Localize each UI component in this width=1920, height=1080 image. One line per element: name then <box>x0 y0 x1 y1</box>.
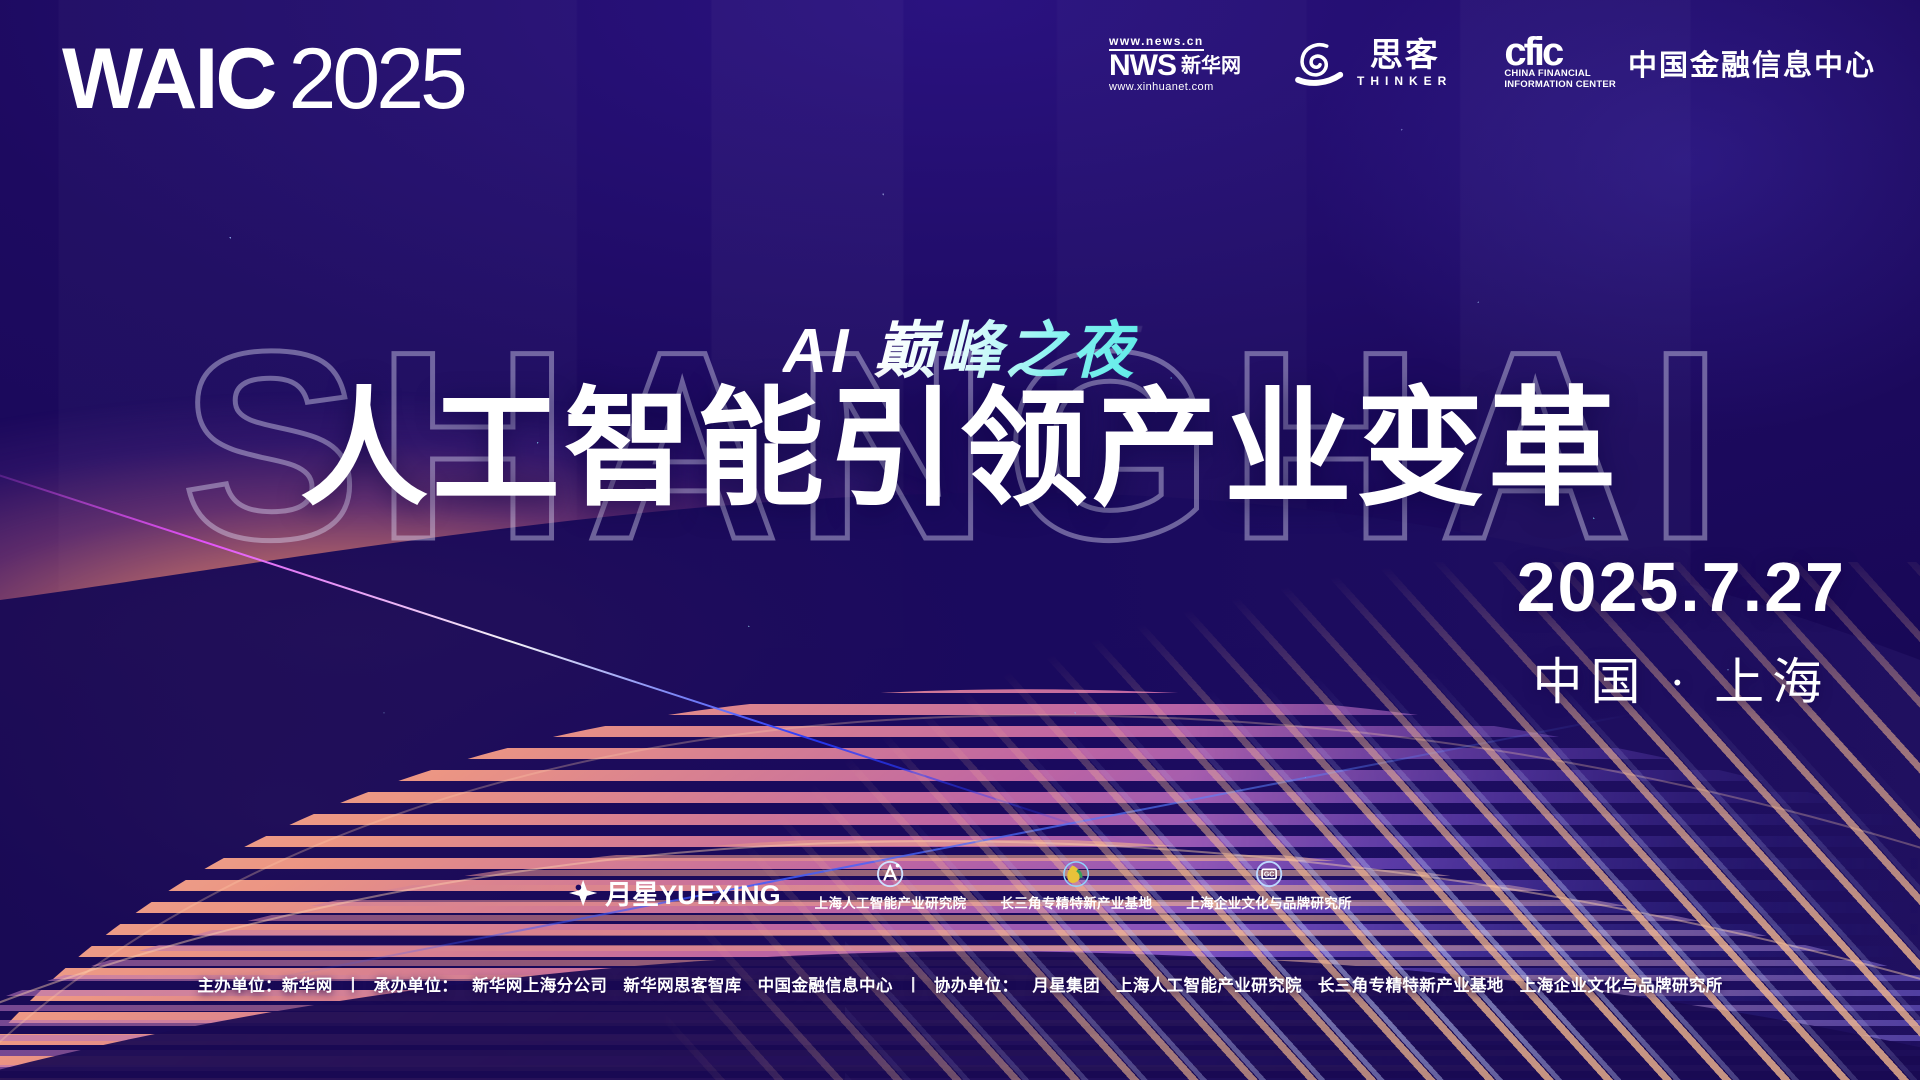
thinker-name-cn: 思客 <box>1370 38 1440 71</box>
waic-logo-brand: WAIC <box>62 36 275 122</box>
credits-organizer-item: 中国金融信息中心 <box>758 972 893 996</box>
partner-logo-cfic: cfic CHINA FINANCIAL INFORMATION CENTER … <box>1504 35 1876 91</box>
sponsor-yuexing: 月星YUEXING <box>568 873 781 912</box>
credits-line: 主办单位：新华网 | 承办单位： 新华网上海分公司 新华网思客智库 中国金融信息… <box>197 972 1722 996</box>
sponsor-ai-institute-label: 上海人工智能产业研究院 <box>815 892 967 912</box>
cfic-sub-en-line2: INFORMATION CENTER <box>1504 80 1616 91</box>
yrd-base-icon <box>1061 859 1091 889</box>
xinhuanet-url-bottom: www.xinhuanet.com <box>1109 81 1214 93</box>
credits-organizer-group: 新华网上海分公司 新华网思客智库 中国金融信息中心 <box>472 972 893 996</box>
credits-coorganizer-item: 上海企业文化与品牌研究所 <box>1520 972 1723 996</box>
credits-coorganizer-label: 协办单位： <box>934 972 1019 996</box>
sponsor-ai-institute: 上海人工智能产业研究院 <box>815 859 967 912</box>
credits-organizer-item: 新华网思客智库 <box>623 972 741 996</box>
credits-separator-2: | <box>907 975 920 994</box>
cfic-name-cn: 中国金融信息中心 <box>1628 42 1876 84</box>
thinker-swirl-icon <box>1293 36 1347 90</box>
sponsor-scbri-label: 上海企业文化与品牌研究所 <box>1186 892 1352 912</box>
yuexing-star-icon <box>568 878 598 908</box>
event-date-block: 2025.7.27 中国 · 上海 <box>1517 552 1846 714</box>
hero-subtitle: AI 巅峰之夜 <box>782 300 1137 390</box>
hero-title: 人工智能引领产业变革 <box>300 378 1620 521</box>
credits-coorganizer-item: 上海人工智能产业研究院 <box>1116 972 1302 996</box>
waic-logo-year: 2025 <box>289 36 464 122</box>
xinhuanet-name-cn: 新华网 <box>1181 56 1241 76</box>
partner-logo-row: www.news.cn NWS 新华网 www.xinhuanet.com 思客 <box>1109 34 1876 93</box>
partner-logo-thinker: 思客 THINKER <box>1293 36 1452 90</box>
credits-organizer-item: 新华网上海分公司 <box>472 972 607 996</box>
waic-logo: WAIC 2025 <box>62 36 464 122</box>
credits-organizer-label: 承办单位： <box>374 972 459 996</box>
ai-institute-icon <box>876 859 906 889</box>
sponsor-yrd-base-label: 长三角专精特新产业基地 <box>1000 892 1152 912</box>
sponsor-yrd-base: 长三角专精特新产业基地 <box>1000 859 1152 912</box>
poster-header: WAIC 2025 www.news.cn NWS 新华网 www.xinhua… <box>0 0 1920 150</box>
cfic-letters: cfic <box>1504 35 1616 69</box>
sponsor-logo-row: 月星YUEXING 上海人工智能产业研究院 长三角专精特新产业基地 <box>568 859 1352 912</box>
event-date: 2025.7.27 <box>1517 552 1846 622</box>
poster-canvas: SHANGHAI WAIC 2025 www.news.cn NWS 新华网 w… <box>0 0 1920 1080</box>
credits-coorganizer-item: 月星集团 <box>1032 972 1100 996</box>
svg-text:GC: GC <box>1264 872 1275 879</box>
xinhuanet-nws-mark: NWS <box>1109 54 1176 79</box>
thinker-name-en: THINKER <box>1357 74 1452 88</box>
credits-coorganizer-item: 长三角专精特新产业基地 <box>1318 972 1504 996</box>
sponsor-yuexing-label: 月星YUEXING <box>605 873 781 912</box>
sponsor-scbri: GC 上海企业文化与品牌研究所 <box>1186 859 1352 912</box>
credits-coorganizer-group: 月星集团 上海人工智能产业研究院 长三角专精特新产业基地 上海企业文化与品牌研究… <box>1032 972 1722 996</box>
credits-host: 主办单位：新华网 <box>197 972 332 996</box>
event-location: 中国 · 上海 <box>1517 642 1846 714</box>
scbri-icon: GC <box>1254 859 1284 889</box>
credits-separator-1: | <box>347 975 360 994</box>
partner-logo-xinhuanet: www.news.cn NWS 新华网 www.xinhuanet.com <box>1109 34 1241 93</box>
